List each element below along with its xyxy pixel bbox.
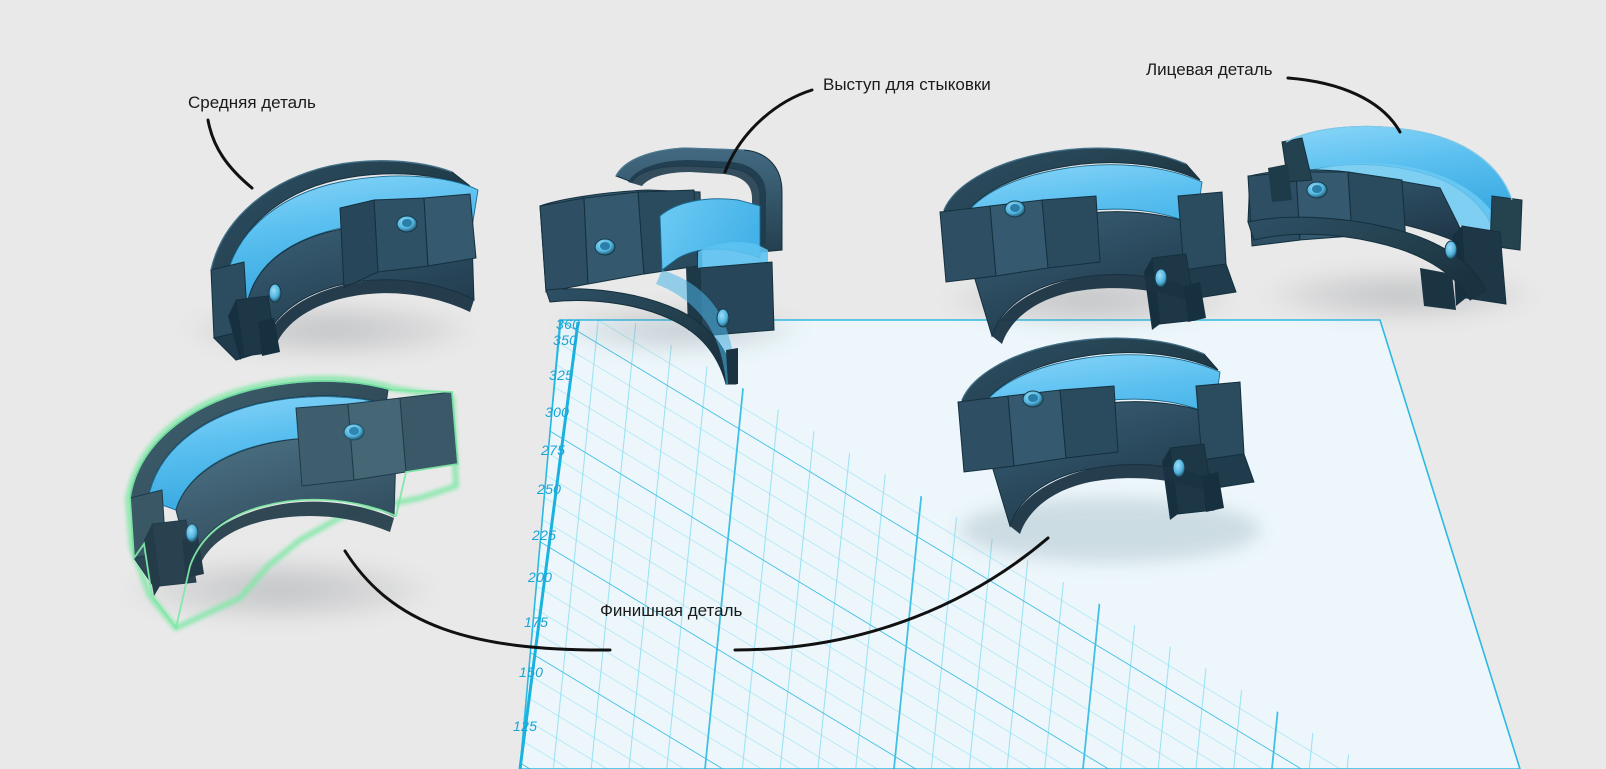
ruler-tick-200: 200 xyxy=(528,569,552,585)
ruler-tick-250: 250 xyxy=(537,481,561,497)
ruler-tick-275: 275 xyxy=(541,442,565,458)
ruler-tick-350: 350 xyxy=(553,332,577,348)
scene-canvas xyxy=(0,0,1606,769)
leader-licevaya xyxy=(1288,78,1400,132)
ruler-tick-225: 225 xyxy=(532,527,556,543)
ruler-tick-150: 150 xyxy=(519,664,543,680)
ruler-tick-125: 125 xyxy=(513,718,537,734)
annotation-finishnaya-label: Финишная деталь xyxy=(600,601,742,621)
ruler-tick-300: 300 xyxy=(545,404,569,420)
cad-3d-viewport[interactable]: Средняя деталь Выступ для стыковки Лицев… xyxy=(0,0,1606,769)
ruler-tick-360: 360 xyxy=(556,316,580,332)
leader-srednyaya xyxy=(208,120,252,188)
ruler-tick-175: 175 xyxy=(524,614,548,630)
workplane-grid[interactable] xyxy=(0,0,1606,769)
ruler-tick-325: 325 xyxy=(549,367,573,383)
annotation-vystup-label: Выступ для стыковки xyxy=(823,75,991,95)
annotation-srednyaya-label: Средняя деталь xyxy=(188,93,316,113)
annotation-licevaya-label: Лицевая деталь xyxy=(1146,60,1273,80)
